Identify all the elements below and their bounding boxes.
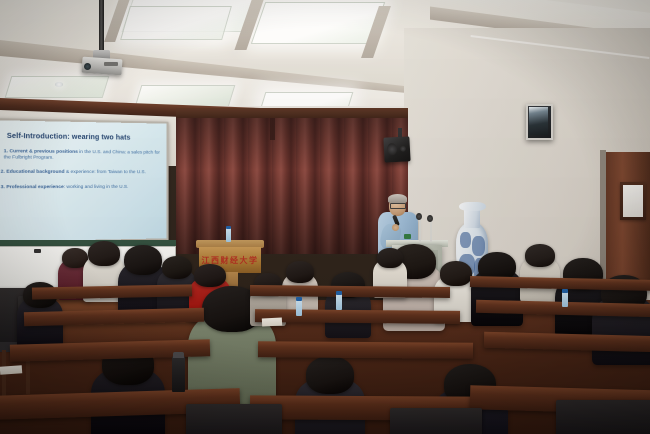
wall-display [526, 104, 553, 140]
presenter-badge [404, 234, 411, 239]
water-bottle [296, 300, 302, 316]
audience-member [325, 272, 371, 340]
slide-bullet-rest: : working and living in the U.S. [64, 185, 129, 190]
speaker-driver [387, 143, 398, 156]
audience-member-head [440, 261, 472, 286]
water-bottle-cap [336, 291, 342, 295]
ceiling-downlight [55, 82, 63, 87]
audience-member [520, 244, 560, 304]
notice-paper [623, 185, 643, 217]
slide-bullet-lead: 3. Professional experience [1, 185, 64, 190]
chair-back[interactable] [390, 408, 482, 434]
audience-member-head [525, 244, 555, 267]
chair-back[interactable] [556, 400, 650, 434]
presenter-glasses [390, 203, 406, 209]
podium-microphone-stem [430, 220, 432, 242]
audience-member-head [286, 261, 314, 283]
framed-notice [620, 182, 646, 220]
desk-row [258, 341, 473, 359]
water-bottle-cap [226, 226, 231, 229]
vase-motif [460, 232, 471, 248]
wall-speaker [383, 136, 410, 162]
audience-member-head [194, 264, 226, 287]
lecture-hall-photo: Self-Introduction: wearing two hats 1. C… [0, 0, 650, 434]
slide-bullet: 3. Professional experience: working and … [1, 185, 163, 192]
water-bottle [336, 294, 342, 310]
ceiling-light-panel [120, 6, 232, 40]
audience-member [471, 252, 523, 328]
slide-title: Self-Introduction: wearing two hats [7, 131, 163, 142]
water-bottle-cap [296, 297, 302, 301]
projection-screen[interactable]: Self-Introduction: wearing two hats 1. C… [0, 120, 167, 242]
audience-member-head [88, 241, 120, 266]
curtain-shading [176, 118, 408, 254]
paper-sheet [0, 365, 22, 375]
projector-pole [99, 0, 104, 52]
podium-microphone-head [416, 213, 422, 220]
slide-bullet-rest: & experience: from Taiwan to the U.S. [65, 170, 146, 175]
desk-row [250, 285, 450, 298]
chair-back[interactable] [186, 404, 282, 434]
slide-content: Self-Introduction: wearing two hats 1. C… [1, 129, 163, 191]
curtain-gap [270, 118, 275, 140]
slide-bullet-lead: 1. Current & previous positions [4, 149, 78, 155]
stage-curtain [176, 118, 408, 254]
projector-vent [104, 62, 118, 66]
presenter-hair [388, 194, 407, 203]
thermos-flask [172, 356, 185, 392]
thermos-cap [173, 352, 184, 358]
presenter-hand [392, 224, 399, 231]
speaker-tweeter [400, 146, 406, 152]
slide-bullet: 2. Educational background & experience: … [1, 170, 163, 177]
audience-member-head [162, 256, 192, 279]
projector-lens [84, 63, 91, 70]
vase-lip [459, 202, 486, 211]
podium-microphone-head [427, 215, 433, 222]
whiteboard-clip [34, 249, 41, 253]
slide-bullet: 1. Current & previous positions in the U… [4, 149, 163, 163]
water-bottle [226, 228, 231, 242]
desk-row [255, 309, 460, 324]
audience-member-head [306, 356, 354, 394]
wall-display-screen [529, 107, 548, 135]
water-bottle [562, 292, 568, 307]
podium-microphone-stem [419, 218, 421, 242]
water-bottle-cap [562, 289, 568, 293]
slide-bullet-lead: 2. Educational background [1, 170, 65, 175]
ceiling-light-panel [251, 2, 385, 44]
ceiling-light-panel [5, 76, 110, 98]
paper-sheet [262, 317, 282, 326]
audience-member-head [377, 248, 403, 268]
